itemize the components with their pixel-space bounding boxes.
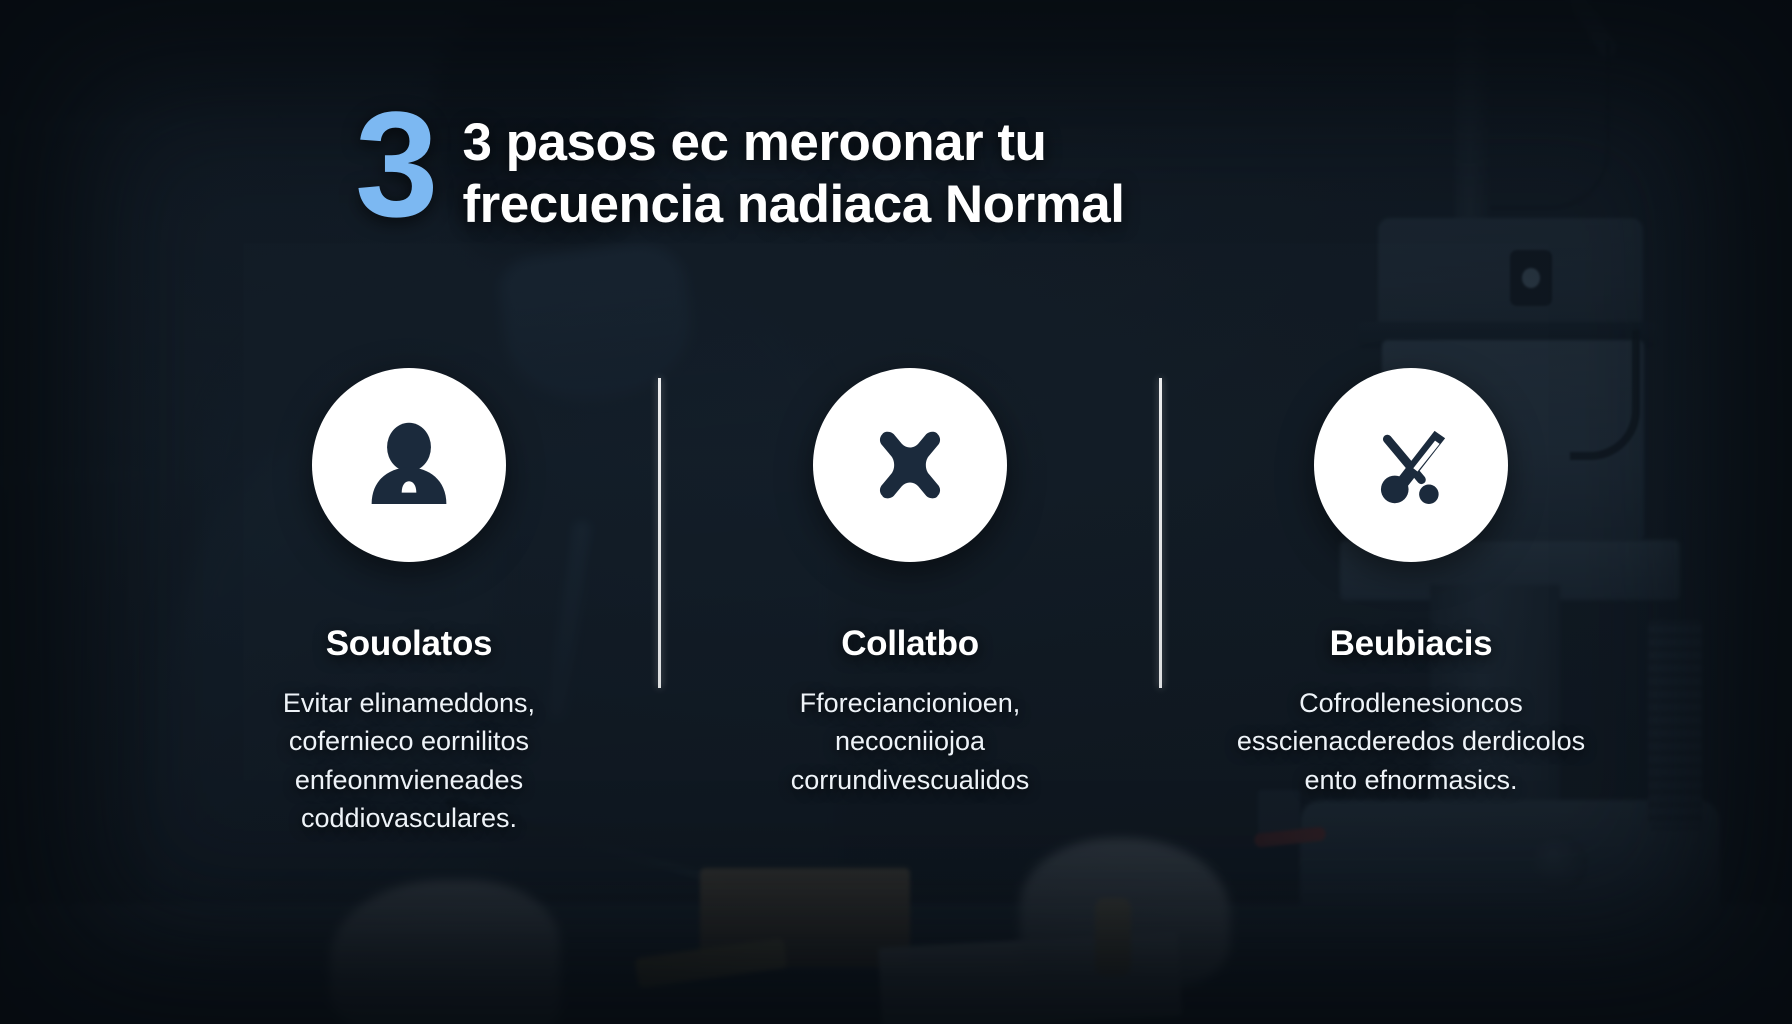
step-number: 3	[355, 100, 434, 229]
step-column-2[interactable]: Collatbo Fforeciancionioen, necocniiojoa…	[661, 368, 1159, 799]
title-line-2: frecuencia nadiaca Normal	[462, 174, 1124, 236]
step-1-body: Evitar elinameddons, cofernieco eornilit…	[229, 684, 589, 837]
step-column-1[interactable]: Souolatos Evitar elinameddons, coferniec…	[160, 368, 658, 837]
infographic-canvas: 3 3 pasos ec meroonar tu frecuencia nadi…	[0, 0, 1792, 1024]
step-column-3[interactable]: Beubiacis Cofrodlenesioncos esscienacder…	[1162, 368, 1660, 799]
step-1-icon-badge	[312, 368, 506, 562]
step-2-icon-badge	[813, 368, 1007, 562]
person-icon	[357, 413, 461, 517]
step-2-title: Collatbo	[841, 624, 979, 664]
step-3-body: Cofrodlenesioncos esscienacderedos derdi…	[1231, 684, 1591, 799]
step-2-body: Fforeciancionioen, necocniiojoa corrundi…	[730, 684, 1090, 799]
page-title: 3 pasos ec meroonar tu frecuencia nadiac…	[462, 100, 1124, 236]
step-3-title: Beubiacis	[1330, 624, 1493, 664]
four-point-star-icon	[858, 413, 962, 517]
title-line-1: 3 pasos ec meroonar tu	[462, 112, 1124, 174]
step-1-title: Souolatos	[326, 624, 492, 664]
step-3-icon-badge	[1314, 368, 1508, 562]
steps-row: Souolatos Evitar elinameddons, coferniec…	[160, 368, 1660, 868]
header: 3 3 pasos ec meroonar tu frecuencia nadi…	[355, 100, 1125, 236]
crossed-instruments-icon	[1359, 413, 1463, 517]
infographic-content: 3 3 pasos ec meroonar tu frecuencia nadi…	[0, 0, 1792, 1024]
